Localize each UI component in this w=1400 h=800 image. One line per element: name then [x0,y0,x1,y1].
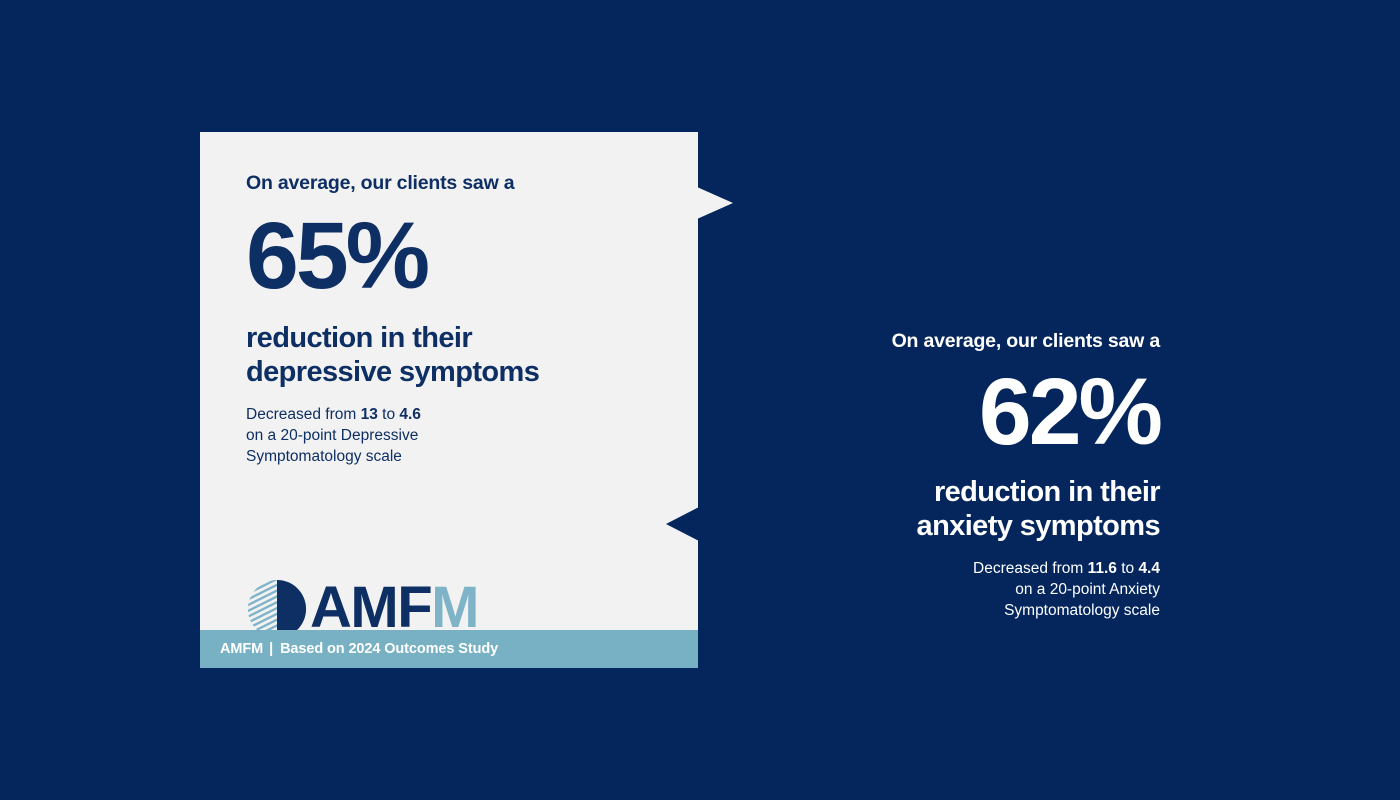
detail-prefix: Decreased from [246,406,361,423]
depression-reduction-percent: 65% [246,209,654,304]
footer-brand: AMFM [220,641,263,657]
footer-divider: | [269,641,273,657]
card-eyebrow: On average, our clients saw a [246,172,654,195]
detail-middle: to [378,406,400,423]
right-detail-from-value: 11.6 [1088,560,1117,577]
right-eyebrow: On average, our clients saw a [760,330,1160,353]
bubble-tail-upper-light [697,187,733,219]
right-detail-middle: to [1117,560,1139,577]
card-content: On average, our clients saw a 65% reduct… [200,132,698,630]
infographic-canvas: On average, our clients saw a 65% reduct… [0,0,1400,800]
depression-detail-text: Decreased from 13 to 4.6 on a 20-point D… [246,404,506,467]
detail-scale-line1: on a 20-point Depressive [246,427,418,444]
anxiety-stat-block: On average, our clients saw a 62% reduct… [760,330,1160,621]
right-subhead-line2: anxiety symptoms [917,510,1160,542]
card-subhead-line2: depressive symptoms [246,356,539,388]
detail-scale-line2: Symptomatology scale [246,448,402,465]
right-detail-scale-line1: on a 20-point Anxiety [1015,581,1160,598]
card-subhead: reduction in their depressive symptoms [246,322,646,390]
detail-to-value: 4.6 [399,406,421,423]
detail-from-value: 13 [361,406,378,423]
right-subhead-line1: reduction in their [934,476,1160,508]
footer-source-text: Based on 2024 Outcomes Study [280,641,498,657]
anxiety-detail-text: Decreased from 11.6 to 4.4 on a 20-point… [760,558,1160,621]
right-detail-to-value: 4.4 [1138,560,1160,577]
right-detail-scale-line2: Symptomatology scale [1004,602,1160,619]
right-subhead: reduction in their anxiety symptoms [760,476,1160,544]
anxiety-reduction-percent: 62% [760,365,1160,460]
depression-stat-card: On average, our clients saw a 65% reduct… [200,132,698,668]
amfm-wordmark: AMFM [310,579,478,637]
card-footer-band: AMFM | Based on 2024 Outcomes Study [200,630,698,668]
card-subhead-line1: reduction in their [246,322,472,354]
right-detail-prefix: Decreased from [973,560,1088,577]
